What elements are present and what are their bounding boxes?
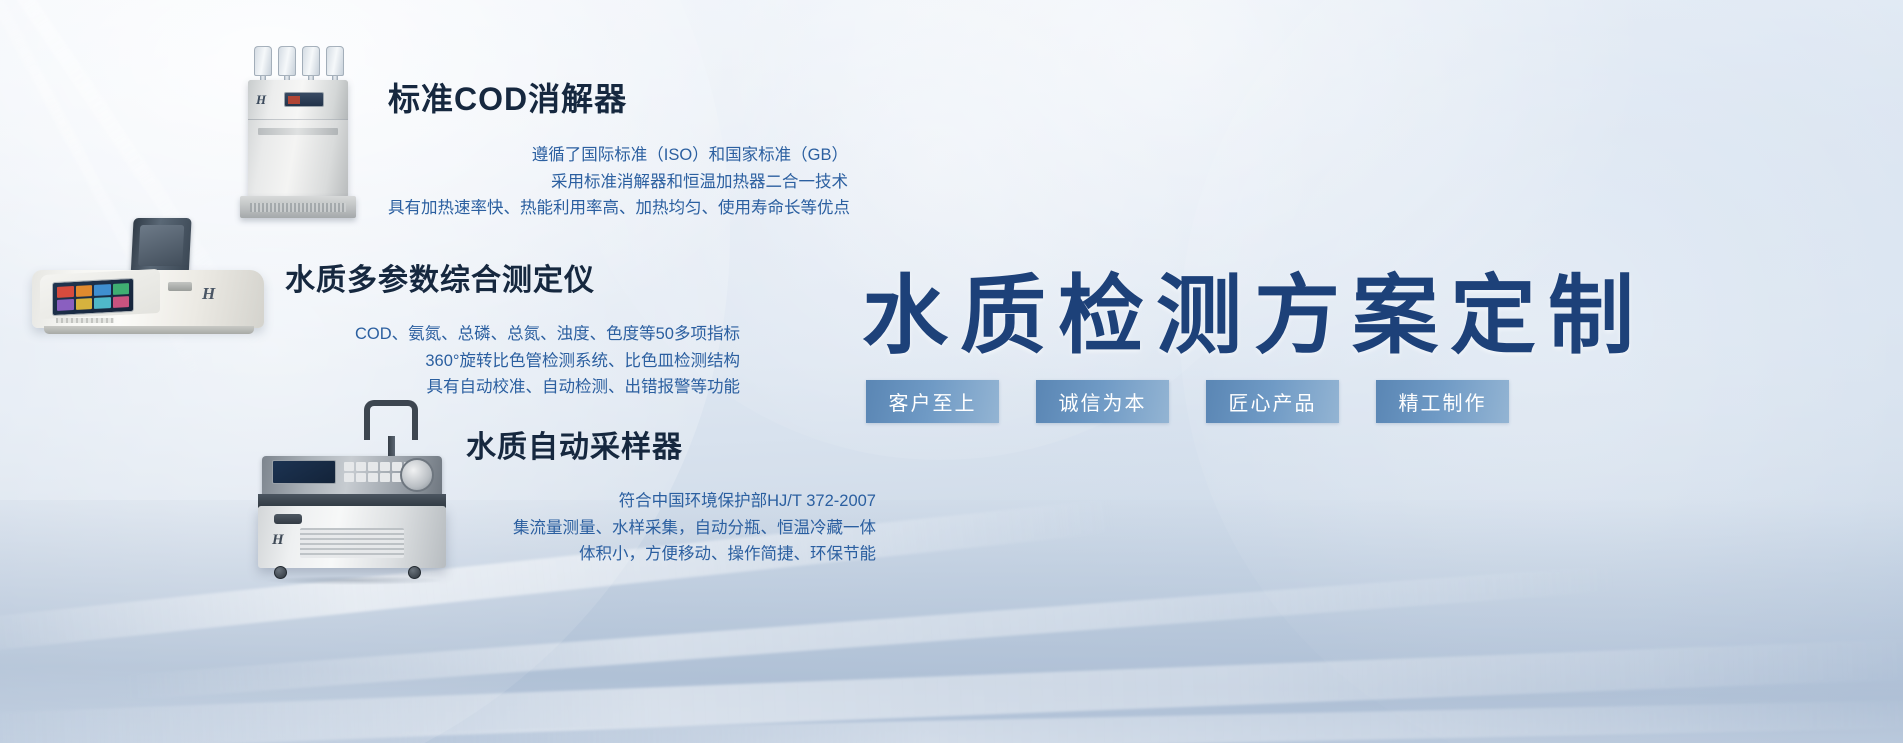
product-block-cod-digester: 标准COD消解器 遵循了国际标准（ISO）和国家标准（GB） 采用标准消解器和恒…: [388, 74, 848, 222]
analyzer-sample-port: [168, 282, 192, 291]
sampler-handle: [364, 400, 418, 440]
product-title: 水质多参数综合测定仪: [285, 255, 740, 299]
background-ribbon-4: [380, 700, 1903, 743]
cod-digester-icon: H: [236, 44, 360, 216]
value-badge-group: 客户至上 诚信为本 匠心产品 精工制作: [866, 380, 1509, 423]
product-feature-list: 遵循了国际标准（ISO）和国家标准（GB） 采用标准消解器和恒温加热器二合一技术…: [388, 142, 848, 222]
brand-mark: H: [272, 532, 284, 549]
product-title: 水质自动采样器: [466, 422, 876, 466]
background-glow-right: [1180, 0, 1903, 743]
product-feature-line: 采用标准消解器和恒温加热器二合一技术: [388, 169, 848, 196]
analyzer-touchscreen: [52, 278, 134, 316]
digester-control-strip: [258, 128, 338, 135]
value-badge[interactable]: 精工制作: [1376, 380, 1509, 423]
product-feature-list: COD、氨氮、总磷、总氮、浊度、色度等50多项指标 360°旋转比色管检测系统、…: [285, 321, 740, 401]
product-feature-line: 集流量测量、水样采集，自动分瓶、恒温冷藏一体: [466, 515, 876, 542]
analyzer-base: [44, 326, 254, 334]
product-title: 标准COD消解器: [388, 74, 848, 120]
value-badge[interactable]: 客户至上: [866, 380, 999, 423]
water-quality-banner: H H H 标准COD消: [0, 0, 1903, 743]
banner-headline: 水质检测方案定制: [862, 245, 1646, 370]
bench-analyzer-icon: H: [22, 218, 272, 350]
sampler-door-handle: [274, 514, 302, 524]
digester-heating-base: [240, 196, 356, 218]
product-feature-line: 符合中国环境保护部HJ/T 372-2007: [466, 488, 876, 515]
background-ribbon-3: [0, 638, 1903, 743]
product-feature-line: 体积小，方便移动、操作简捷、环保节能: [466, 541, 876, 568]
value-badge[interactable]: 诚信为本: [1036, 380, 1169, 423]
brand-mark: H: [202, 284, 215, 304]
sampler-ground-shadow: [266, 576, 442, 585]
brand-mark: H: [256, 92, 272, 108]
analyzer-vent: [56, 318, 114, 323]
product-block-auto-sampler: 水质自动采样器 符合中国环境保护部HJ/T 372-2007 集流量测量、水样采…: [466, 422, 876, 568]
product-feature-line: 360°旋转比色管检测系统、比色皿检测结构: [285, 348, 740, 375]
product-block-multi-parameter-analyzer: 水质多参数综合测定仪 COD、氨氮、总磷、总氮、浊度、色度等50多项指标 360…: [285, 255, 740, 401]
product-feature-line: 遵循了国际标准（ISO）和国家标准（GB）: [388, 142, 848, 169]
product-feature-list: 符合中国环境保护部HJ/T 372-2007 集流量测量、水样采集，自动分瓶、恒…: [466, 488, 876, 568]
product-feature-line: 具有自动校准、自动检测、出错报警等功能: [285, 374, 740, 401]
product-feature-line: COD、氨氮、总磷、总氮、浊度、色度等50多项指标: [285, 321, 740, 348]
sampler-vent-grill: [300, 528, 404, 558]
product-feature-line: 具有加热速率快、热能利用率高、加热均匀、使用寿命长等优点: [388, 195, 848, 222]
value-badge[interactable]: 匠心产品: [1206, 380, 1339, 423]
sampler-peristaltic-pump: [400, 458, 434, 492]
auto-sampler-icon: H: [252, 400, 452, 580]
digester-display: [284, 92, 324, 107]
background-ribbon-2: [121, 565, 1619, 701]
sampler-display: [272, 460, 336, 484]
